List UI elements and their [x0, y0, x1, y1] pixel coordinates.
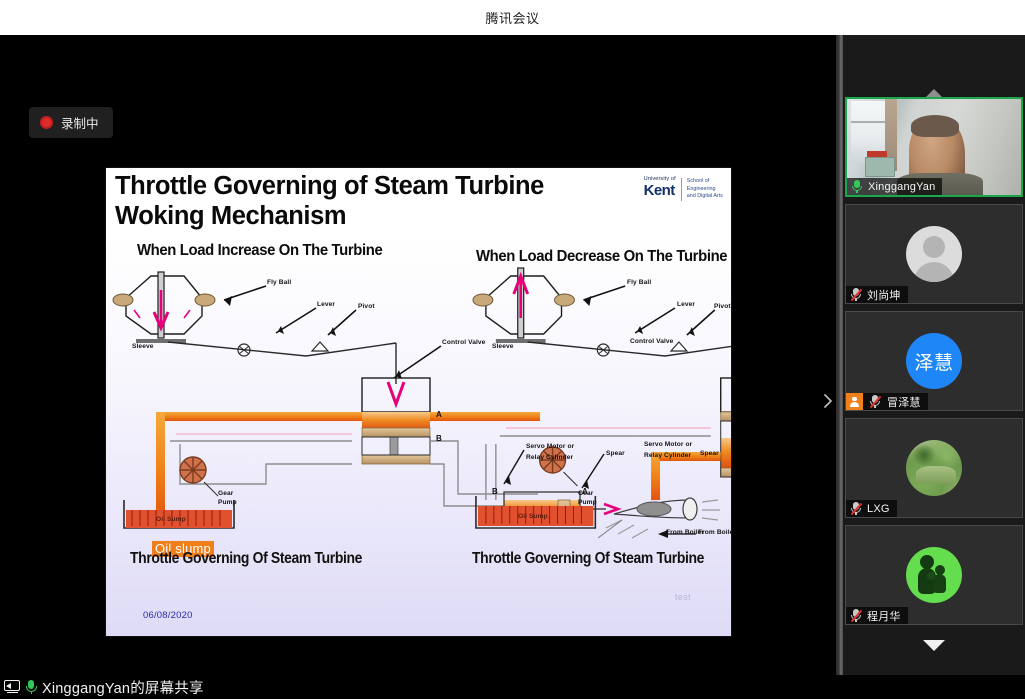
- right-label-control-valve: Control Valve: [630, 338, 673, 345]
- participant-name: LXG: [867, 503, 890, 515]
- left-label-gear-pump-line2: Pump: [218, 499, 237, 506]
- record-dot-icon: [40, 116, 53, 129]
- panel-resize-scrollbar[interactable]: [836, 35, 843, 675]
- left-label-oil-sump: Oil Sump: [156, 516, 186, 523]
- window-title: 腾讯会议: [485, 8, 539, 27]
- participant-tile-maozehui[interactable]: 泽慧 冒泽慧: [845, 311, 1023, 411]
- default-person-avatar: [906, 226, 962, 282]
- participant-tile-lxg[interactable]: LXG: [845, 418, 1023, 518]
- slide-footer-note: test: [675, 592, 691, 602]
- mic-on-icon: [851, 180, 863, 194]
- mic-muted-icon: [850, 288, 862, 302]
- right-label-servo-line2: Relay Cylinder: [644, 452, 691, 459]
- left-label-servo-line1: Servo Motor or: [526, 443, 574, 450]
- photo-avatar: [906, 547, 962, 603]
- slide-date: 06/08/2020: [143, 610, 193, 621]
- slide-title: Throttle Governing of Steam Turbine Woki…: [115, 172, 635, 232]
- photo-avatar: [906, 440, 962, 496]
- host-person-icon: [846, 393, 863, 410]
- tencent-meeting-window: 腾讯会议 录制中 Throttle Governing of Steam Tur…: [0, 0, 1025, 699]
- left-label-control-valve: Control Valve: [442, 339, 485, 346]
- left-diagram-caption: Throttle Governing Of Steam Turbine: [130, 550, 362, 568]
- left-label-lever: Lever: [317, 301, 335, 308]
- right-label-from-boiler: From Boiler: [666, 529, 704, 536]
- participant-panel: XinggangYan 刘尚坤 泽慧: [843, 35, 1025, 675]
- participant-tile-list: XinggangYan 刘尚坤 泽慧: [843, 97, 1025, 632]
- right-diagram-caption: Throttle Governing Of Steam Turbine: [472, 550, 704, 568]
- title-bar: 腾讯会议: [0, 0, 1025, 35]
- left-port-b: B: [436, 434, 442, 443]
- initials-avatar: 泽慧: [906, 333, 962, 389]
- mic-muted-icon: [850, 502, 862, 516]
- participant-name-bar: 刘尚坤: [846, 286, 908, 303]
- recording-badge: 录制中: [29, 107, 113, 138]
- right-label-servo-line1: Servo Motor or: [644, 441, 692, 448]
- participant-tile-xinggangyan[interactable]: XinggangYan: [845, 97, 1023, 197]
- left-label-spear: Spear: [606, 450, 625, 457]
- avatar-initials: 泽慧: [914, 348, 953, 375]
- right-label-sleeve: Sleeve: [492, 343, 514, 350]
- screen-share-icon: [4, 680, 21, 695]
- right-label-pivot: Pivot: [714, 303, 731, 310]
- mic-muted-icon: [869, 395, 881, 409]
- logo-school-line-1: School of: [687, 178, 723, 186]
- mic-on-icon: [25, 679, 38, 695]
- right-label-lever: Lever: [677, 301, 695, 308]
- right-label-oil-sump: Oil Sump: [518, 513, 548, 520]
- shared-screen-stage: 录制中 Throttle Governing of Steam Turbine …: [0, 35, 836, 675]
- left-label-gear-pump-line1: Gear: [218, 490, 233, 497]
- recording-label: 录制中: [61, 113, 99, 132]
- slide-artwork: When Load Increase On The Turbine Fly Ba…: [106, 238, 731, 636]
- video-box-object: [865, 157, 895, 177]
- chevron-right-icon[interactable]: [820, 390, 836, 412]
- left-label-pivot: Pivot: [358, 303, 375, 310]
- left-port-b2: B: [492, 487, 498, 496]
- right-label-spear: Spear: [700, 450, 719, 457]
- participant-name: 程月华: [867, 608, 901, 624]
- logo-school-line-3: and Digital Arts: [687, 193, 723, 201]
- screen-share-status-bar: XinggangYan的屏幕共享: [0, 675, 1025, 699]
- participant-name: 刘尚坤: [867, 287, 901, 303]
- participant-tile-liushangkun[interactable]: 刘尚坤: [845, 204, 1023, 304]
- shared-slide: Throttle Governing of Steam Turbine Woki…: [105, 167, 732, 637]
- logo-school-line-2: Engineering: [687, 186, 723, 194]
- left-label-fly-ball: Fly Ball: [267, 279, 291, 286]
- participant-name-bar: XinggangYan: [847, 178, 942, 195]
- participant-name: XinggangYan: [868, 181, 935, 193]
- participant-name: 冒泽慧: [887, 394, 921, 410]
- right-diagram-heading: When Load Decrease On The Turbine: [476, 248, 727, 266]
- participant-name-bar: 冒泽慧: [846, 393, 928, 410]
- scroll-down-button[interactable]: [843, 630, 1025, 660]
- right-label-gear-pump-line2: Pump: [578, 499, 597, 506]
- screen-share-label: XinggangYan的屏幕共享: [42, 677, 204, 698]
- right-label-gear-pump-line1: Gear: [578, 490, 593, 497]
- participant-name-bar: 程月华: [846, 607, 908, 624]
- left-diagram-heading: When Load Increase On The Turbine: [137, 242, 382, 260]
- left-label-servo-line2: Relay Cylinder: [526, 454, 573, 461]
- participant-name-bar: LXG: [846, 500, 897, 517]
- turbine-diagrams-svg: [106, 238, 731, 636]
- logo-kent-name: Kent: [644, 184, 676, 198]
- participant-tile-chengyuehua[interactable]: 程月华: [845, 525, 1023, 625]
- logo-divider: [681, 178, 682, 201]
- left-port-a: A: [436, 410, 442, 419]
- right-label-fly-ball: Fly Ball: [627, 279, 651, 286]
- mic-muted-icon: [850, 609, 862, 623]
- video-person-hair: [911, 115, 959, 137]
- triangle-down-icon: [923, 640, 945, 651]
- university-of-kent-logo: University of Kent School of Engineering…: [644, 177, 723, 201]
- left-label-sleeve: Sleeve: [132, 343, 154, 350]
